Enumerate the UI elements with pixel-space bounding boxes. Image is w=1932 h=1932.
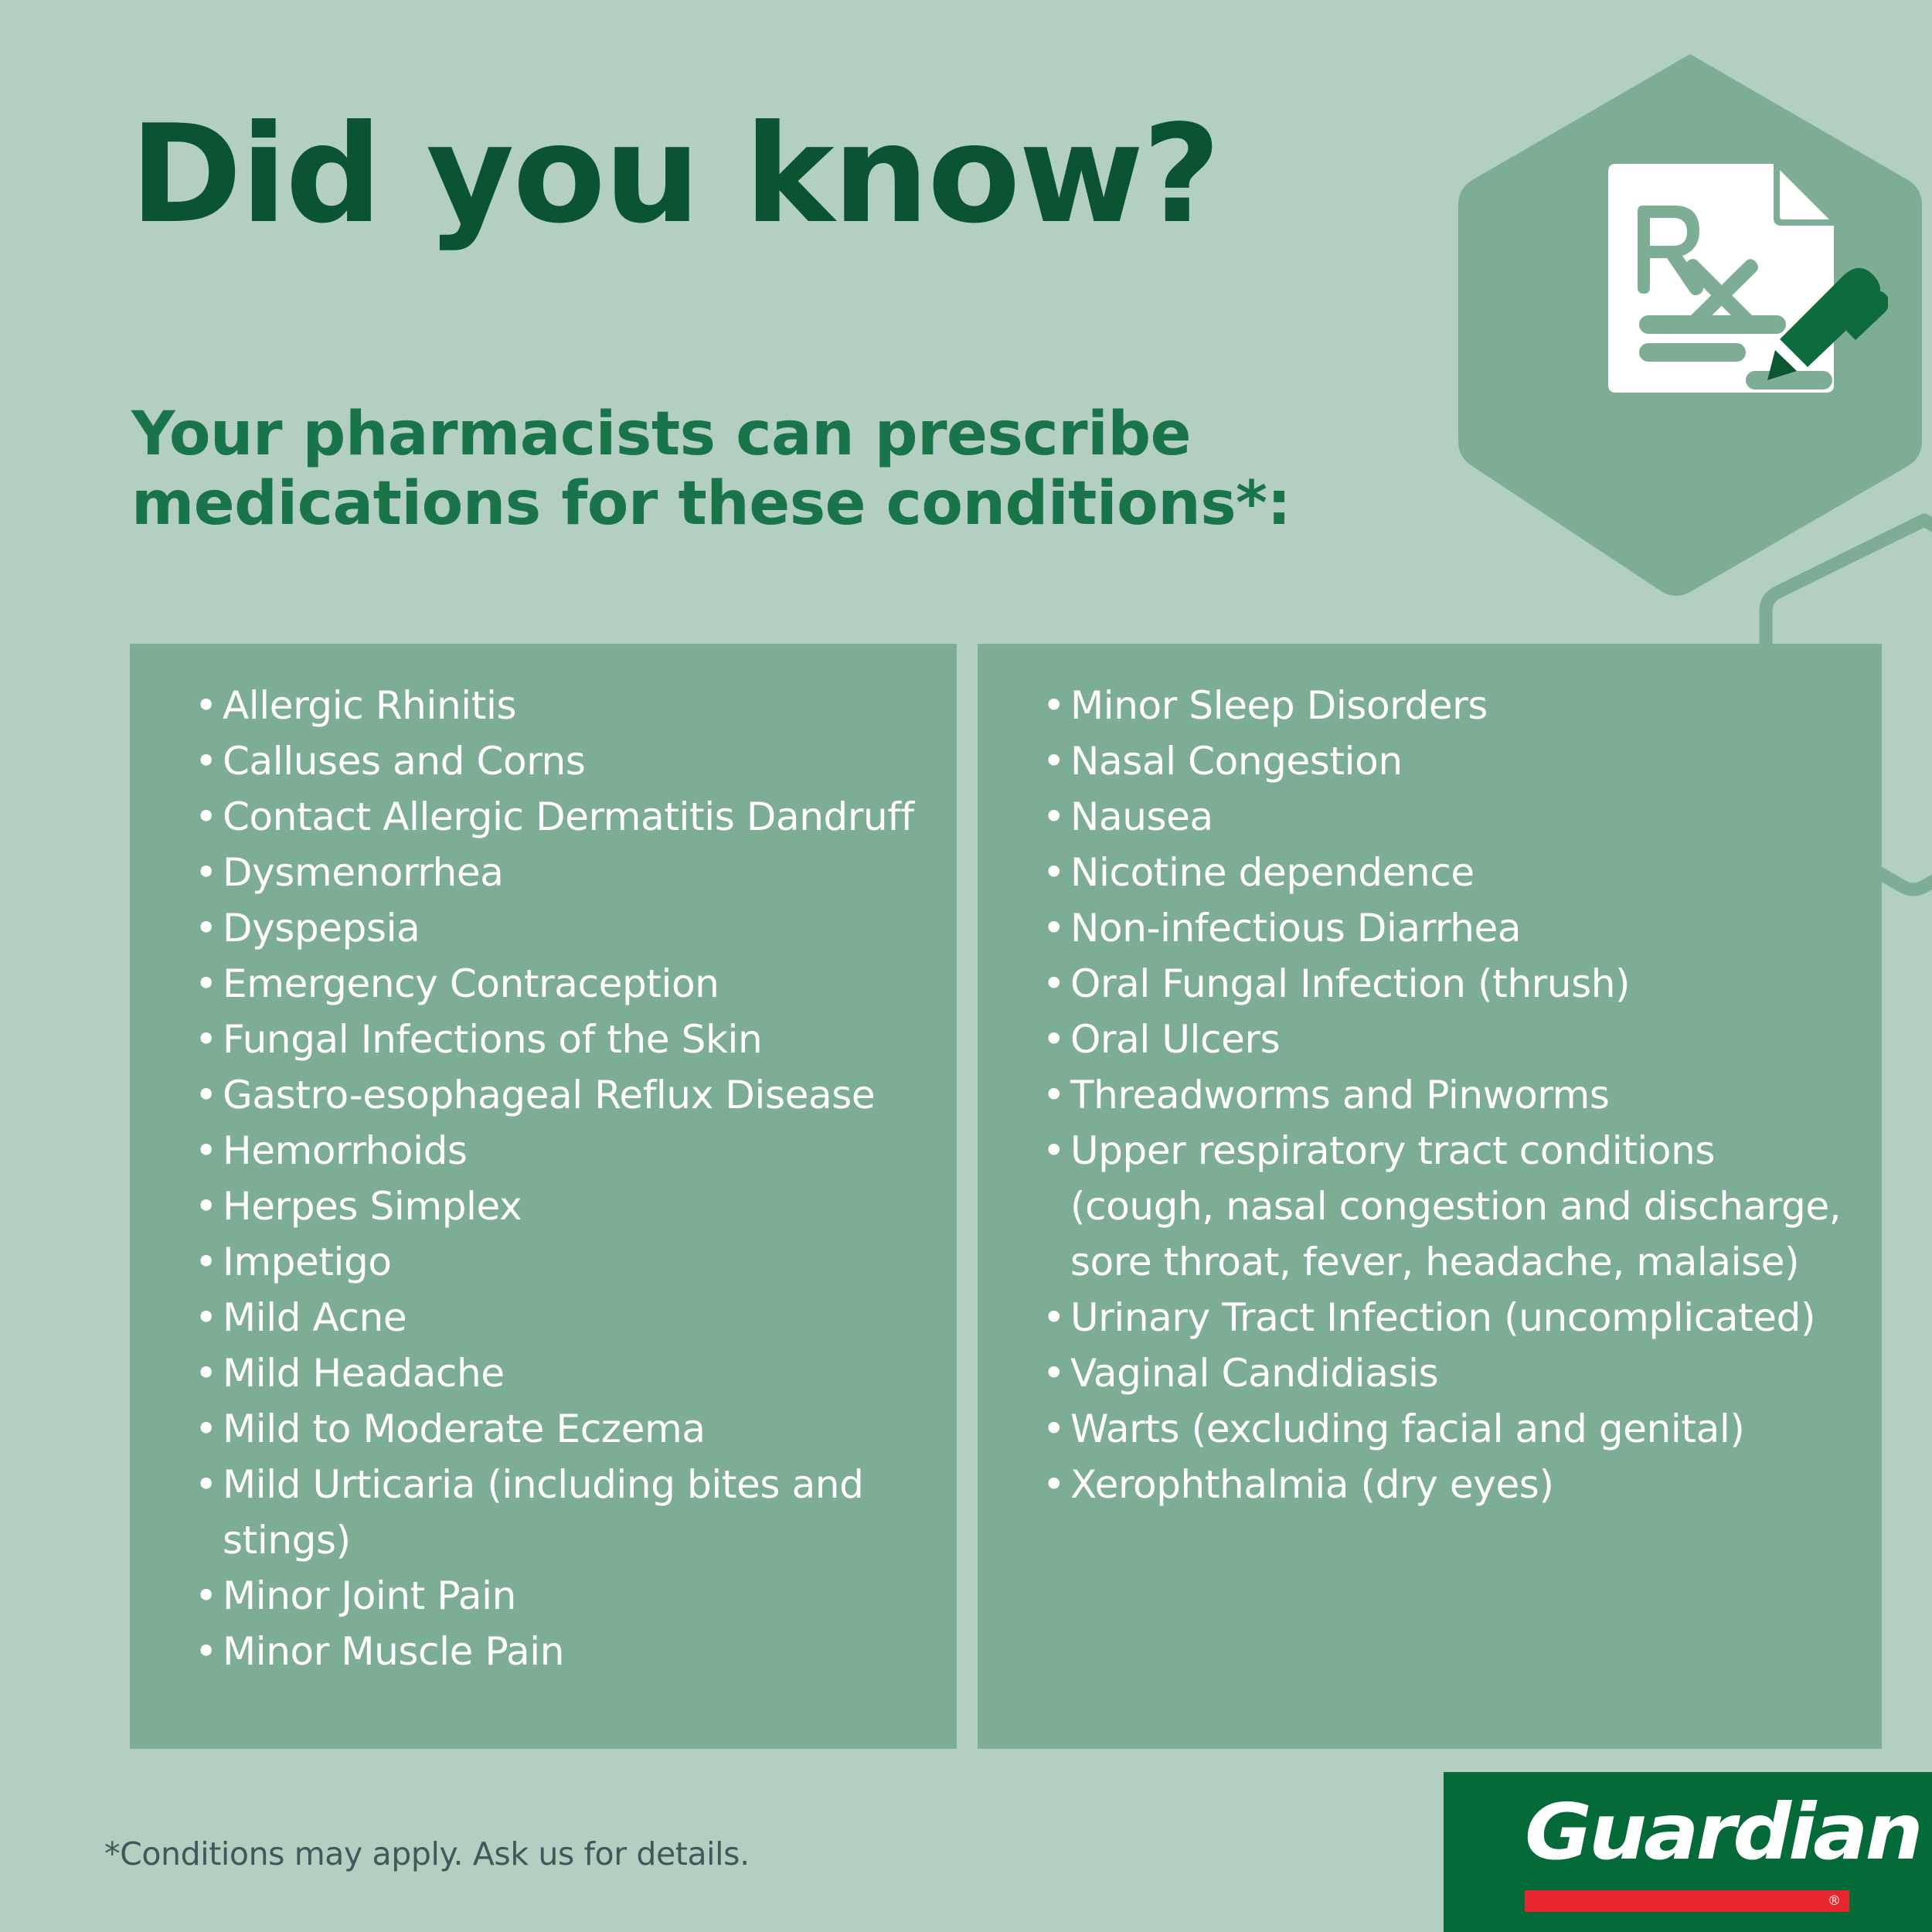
list-item: •Dysmenorrhea — [193, 845, 935, 900]
list-item-label: Fungal Infections of the Skin — [223, 1017, 762, 1062]
list-item-label: Mild to Moderate Eczema — [223, 1406, 706, 1451]
list-item-label: Minor Muscle Pain — [223, 1629, 564, 1674]
rx-prescription-document-icon — [1594, 161, 1888, 462]
bullet-icon: • — [195, 678, 217, 733]
list-item: •Emergency Contraception — [193, 956, 935, 1012]
guardian-wordmark: Guardian — [1525, 1794, 1920, 1871]
list-item: •Dyspepsia — [193, 900, 935, 956]
list-item-label: Xerophthalmia (dry eyes) — [1070, 1462, 1554, 1507]
list-item-label: Nicotine dependence — [1070, 850, 1475, 895]
bullet-icon: • — [195, 1067, 217, 1123]
list-item-label: Herpes Simplex — [223, 1184, 522, 1229]
list-item-label: Gastro-esophageal Reflux Disease — [223, 1073, 875, 1117]
list-item: •Impetigo — [193, 1234, 935, 1290]
list-item-label: Contact Allergic Dermatitis Dandruff — [223, 794, 914, 839]
list-item: •Oral Fungal Infection (thrush) — [1041, 956, 1852, 1012]
bullet-icon: • — [195, 733, 217, 789]
bullet-icon: • — [195, 1290, 217, 1345]
bullet-icon: • — [1043, 956, 1065, 1012]
conditions-list-right: •Minor Sleep Disorders•Nasal Congestion•… — [1041, 678, 1852, 1512]
list-item-label: Hemorrhoids — [223, 1128, 468, 1173]
registered-trademark-icon: ® — [1828, 1892, 1841, 1910]
list-item: •Upper respiratory tract conditions (cou… — [1041, 1123, 1852, 1290]
bullet-icon: • — [1043, 789, 1065, 845]
bullet-icon: • — [195, 1012, 217, 1067]
list-item: •Threadworms and Pinworms — [1041, 1067, 1852, 1123]
list-item: •Non-infectious Diarrhea — [1041, 900, 1852, 956]
list-item-label: Allergic Rhinitis — [223, 683, 516, 728]
list-item-label: Threadworms and Pinworms — [1070, 1073, 1610, 1117]
bullet-icon: • — [195, 1179, 217, 1234]
list-item-label: Dysmenorrhea — [223, 850, 504, 895]
bullet-icon: • — [195, 1345, 217, 1401]
list-item-label: Warts (excluding facial and genital) — [1070, 1406, 1744, 1451]
bullet-icon: • — [1043, 1012, 1065, 1067]
bullet-icon: • — [195, 1457, 217, 1512]
conditions-list-left: •Allergic Rhinitis•Calluses and Corns•Co… — [193, 678, 935, 1679]
list-item: •Xerophthalmia (dry eyes) — [1041, 1457, 1852, 1512]
list-item: •Urinary Tract Infection (uncomplicated) — [1041, 1290, 1852, 1345]
bullet-icon: • — [195, 900, 217, 956]
list-item-label: Nasal Congestion — [1070, 739, 1403, 784]
list-item: •Minor Sleep Disorders — [1041, 678, 1852, 733]
bullet-icon: • — [195, 1568, 217, 1624]
bullet-icon: • — [195, 1123, 217, 1179]
list-item-label: Mild Headache — [223, 1351, 505, 1396]
list-item-label: Emergency Contraception — [223, 961, 719, 1006]
bullet-icon: • — [195, 1234, 217, 1290]
bullet-icon: • — [195, 1401, 217, 1457]
page-subtitle: Your pharmacists can prescribe medicatio… — [131, 400, 1291, 539]
bullet-icon: • — [1043, 1290, 1065, 1345]
list-item-label: Vaginal Candidiasis — [1070, 1351, 1438, 1396]
guardian-logo: Guardian ® — [1444, 1772, 1932, 1932]
conditions-panel-right: •Minor Sleep Disorders•Nasal Congestion•… — [978, 644, 1882, 1749]
list-item-label: Oral Ulcers — [1070, 1017, 1280, 1062]
page-title: Did you know? — [130, 107, 1219, 243]
list-item: •Contact Allergic Dermatitis Dandruff — [193, 789, 935, 845]
infographic-canvas: Did you know? Your pharmacists can presc… — [0, 0, 1932, 1932]
list-item-label: Non-infectious Diarrhea — [1070, 906, 1521, 951]
bullet-icon: • — [1043, 1067, 1065, 1123]
list-item: •Warts (excluding facial and genital) — [1041, 1401, 1852, 1457]
bullet-icon: • — [1043, 900, 1065, 956]
bullet-icon: • — [195, 789, 217, 845]
list-item: •Herpes Simplex — [193, 1179, 935, 1234]
list-item: •Oral Ulcers — [1041, 1012, 1852, 1067]
list-item: •Fungal Infections of the Skin — [193, 1012, 935, 1067]
list-item: •Nicotine dependence — [1041, 845, 1852, 900]
list-item-label: Upper respiratory tract conditions (coug… — [1070, 1128, 1841, 1284]
bullet-icon: • — [1043, 1401, 1065, 1457]
list-item: •Mild Urticaria (including bites and sti… — [193, 1457, 935, 1568]
list-item-label: Dyspepsia — [223, 906, 420, 951]
list-item-label: Mild Acne — [223, 1295, 406, 1340]
list-item: •Mild Acne — [193, 1290, 935, 1345]
bullet-icon: • — [195, 845, 217, 900]
bullet-icon: • — [195, 956, 217, 1012]
list-item-label: Nausea — [1070, 794, 1213, 839]
list-item-label: Minor Joint Pain — [223, 1573, 516, 1618]
bullet-icon: • — [1043, 845, 1065, 900]
list-item: •Hemorrhoids — [193, 1123, 935, 1179]
list-item: •Allergic Rhinitis — [193, 678, 935, 733]
list-item-label: Minor Sleep Disorders — [1070, 683, 1488, 728]
guardian-red-rule — [1525, 1890, 1849, 1912]
bullet-icon: • — [195, 1624, 217, 1679]
list-item: •Calluses and Corns — [193, 733, 935, 789]
list-item: •Vaginal Candidiasis — [1041, 1345, 1852, 1401]
footnote-text: *Conditions may apply. Ask us for detail… — [104, 1835, 750, 1872]
page-subtitle-line-2: medications for these conditions*: — [131, 470, 1291, 539]
bullet-icon: • — [1043, 733, 1065, 789]
list-item-label: Calluses and Corns — [223, 739, 585, 784]
bullet-icon: • — [1043, 678, 1065, 733]
list-item-label: Urinary Tract Infection (uncomplicated) — [1070, 1295, 1815, 1340]
list-item: •Mild Headache — [193, 1345, 935, 1401]
page-subtitle-line-1: Your pharmacists can prescribe — [131, 400, 1291, 470]
conditions-panel-left: •Allergic Rhinitis•Calluses and Corns•Co… — [130, 644, 957, 1749]
list-item: •Mild to Moderate Eczema — [193, 1401, 935, 1457]
list-item-label: Oral Fungal Infection (thrush) — [1070, 961, 1630, 1006]
list-item: •Minor Joint Pain — [193, 1568, 935, 1624]
list-item: •Gastro-esophageal Reflux Disease — [193, 1067, 935, 1123]
list-item-label: Mild Urticaria (including bites and stin… — [223, 1462, 863, 1563]
bullet-icon: • — [1043, 1345, 1065, 1401]
list-item: •Nasal Congestion — [1041, 733, 1852, 789]
list-item: •Nausea — [1041, 789, 1852, 845]
list-item: •Minor Muscle Pain — [193, 1624, 935, 1679]
list-item-label: Impetigo — [223, 1240, 392, 1284]
bullet-icon: • — [1043, 1457, 1065, 1512]
bullet-icon: • — [1043, 1123, 1065, 1179]
